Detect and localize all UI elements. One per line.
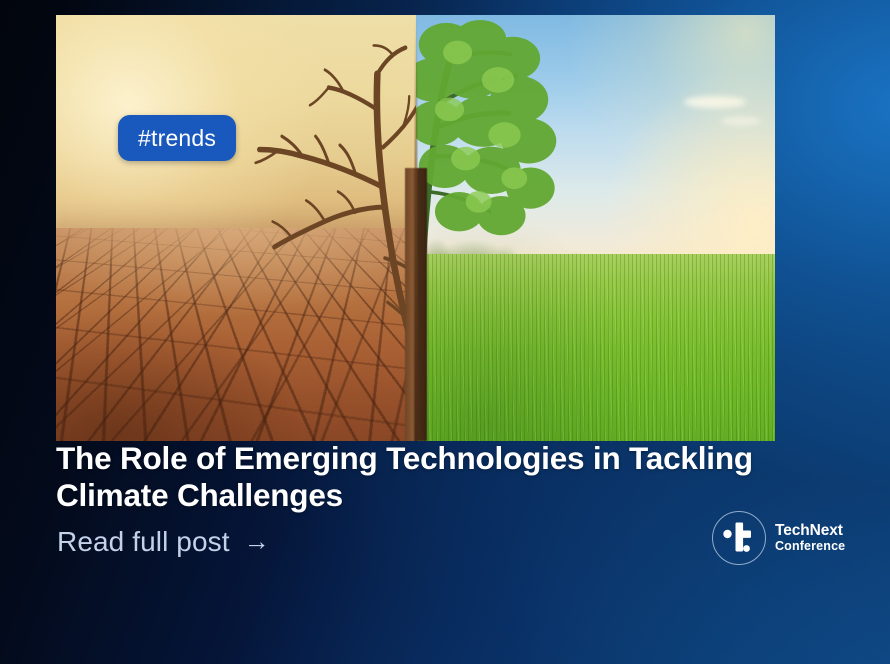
before-after-seam [414, 15, 417, 441]
green-half [416, 15, 776, 441]
leafy-tree-icon [416, 19, 596, 275]
read-full-post-label: Read full post [57, 526, 230, 558]
article-title: The Role of Emerging Technologies in Tac… [56, 440, 796, 514]
brand-logo-text: TechNext Conference [775, 523, 845, 553]
drought-half [56, 15, 416, 441]
trends-badge[interactable]: #trends [118, 115, 236, 161]
read-full-post-link[interactable]: Read full post → [57, 526, 270, 558]
arrow-right-icon: → [244, 528, 270, 554]
brand-logo[interactable]: TechNext Conference [712, 511, 845, 565]
brand-name-line2: Conference [775, 540, 845, 553]
brand-name-line1: TechNext [775, 523, 845, 539]
dead-tree-icon [235, 41, 416, 373]
article-hero-image: #trends [56, 15, 775, 441]
trends-badge-label: #trends [138, 125, 216, 152]
technext-t-mark-icon [712, 511, 766, 565]
climate-split-illustration [56, 15, 775, 441]
promo-poster: #trends The Role of Emerging Technologie… [0, 0, 890, 664]
